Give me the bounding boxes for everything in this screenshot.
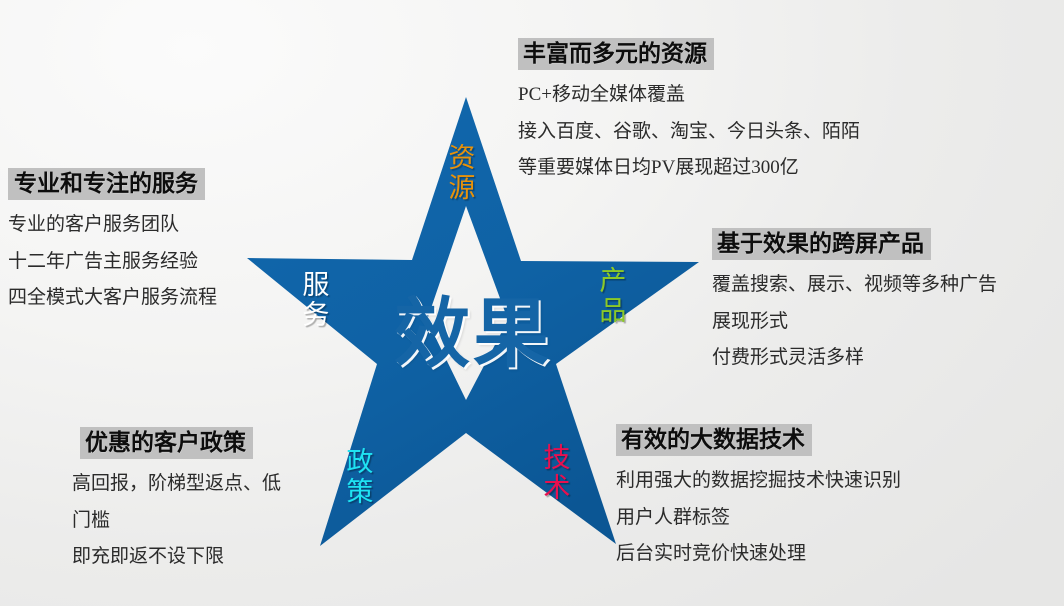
callout-line: 覆盖搜索、展示、视频等多种广告 (712, 267, 997, 303)
callout-line: 十二年广告主服务经验 (8, 244, 217, 280)
callout-lines-product: 覆盖搜索、展示、视频等多种广告 展现形式 付费形式灵活多样 (712, 267, 997, 376)
callout-line: 高回报，阶梯型返点、低 (72, 466, 281, 502)
star-point-label-service: 服务 (299, 270, 333, 330)
callout-title-resource: 丰富而多元的资源 (518, 38, 714, 70)
callout-service: 专业和专注的服务 专业的客户服务团队 十二年广告主服务经验 四全模式大客户服务流… (8, 168, 217, 317)
callout-line: 接入百度、谷歌、淘宝、今日头条、陌陌 (518, 114, 860, 150)
callout-line: 用户人群标签 (616, 500, 901, 536)
callout-title-service: 专业和专注的服务 (8, 168, 205, 200)
callout-title-policy: 优惠的客户政策 (80, 427, 253, 459)
callout-title-tech: 有效的大数据技术 (616, 424, 812, 456)
callout-product: 基于效果的跨屏产品 覆盖搜索、展示、视频等多种广告 展现形式 付费形式灵活多样 (712, 228, 997, 377)
star-point-label-policy: 政策 (343, 447, 377, 507)
callout-lines-policy: 高回报，阶梯型返点、低 门槛 即充即返不设下限 (72, 466, 281, 575)
callout-lines-resource: PC+移动全媒体覆盖 接入百度、谷歌、淘宝、今日头条、陌陌 等重要媒体日均PV展… (518, 77, 860, 186)
star-center-word: 效果 (394, 297, 552, 373)
callout-line: 专业的客户服务团队 (8, 207, 217, 243)
callout-line: 门槛 (72, 503, 281, 539)
star-point-label-tech: 技术 (540, 443, 574, 503)
callout-line: 后台实时竞价快速处理 (616, 536, 901, 572)
callout-line: 四全模式大客户服务流程 (8, 280, 217, 316)
callout-tech: 有效的大数据技术 利用强大的数据挖掘技术快速识别 用户人群标签 后台实时竞价快速… (616, 424, 901, 573)
star-point-label-product: 产品 (596, 266, 630, 326)
callout-lines-tech: 利用强大的数据挖掘技术快速识别 用户人群标签 后台实时竞价快速处理 (616, 463, 901, 572)
callout-title-product: 基于效果的跨屏产品 (712, 228, 931, 260)
callout-line: 付费形式灵活多样 (712, 340, 997, 376)
callout-line: 展现形式 (712, 304, 997, 340)
callout-line: 即充即返不设下限 (72, 539, 281, 575)
callout-policy: 优惠的客户政策 高回报，阶梯型返点、低 门槛 即充即返不设下限 (72, 427, 281, 576)
slide-canvas: 资源 产品 技术 政策 服务 效果 丰富而多元的资源 PC+移动全媒体覆盖 接入… (0, 0, 1064, 606)
star-point-label-resource: 资源 (445, 143, 479, 203)
callout-line: 等重要媒体日均PV展现超过300亿 (518, 150, 860, 186)
callout-line: PC+移动全媒体覆盖 (518, 77, 860, 113)
callout-resource: 丰富而多元的资源 PC+移动全媒体覆盖 接入百度、谷歌、淘宝、今日头条、陌陌 等… (518, 38, 860, 187)
callout-lines-service: 专业的客户服务团队 十二年广告主服务经验 四全模式大客户服务流程 (8, 207, 217, 316)
callout-line: 利用强大的数据挖掘技术快速识别 (616, 463, 901, 499)
